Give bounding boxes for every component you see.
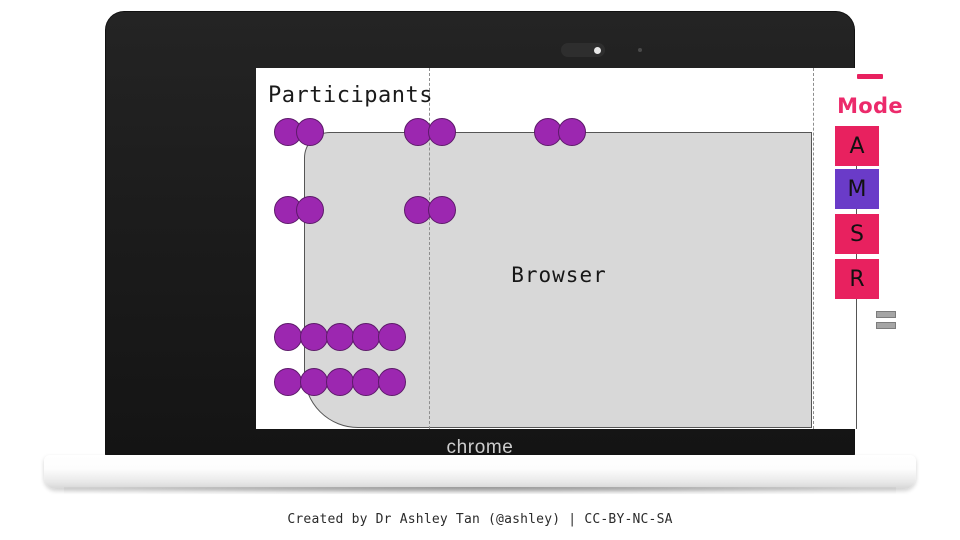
mode-chip-label: R [849,267,864,292]
participant-dot[interactable] [558,118,586,146]
mode-chip-label: A [849,134,864,159]
participant-dot[interactable] [352,323,380,351]
mode-accent-dash-icon [857,74,883,79]
participant-dot[interactable] [296,118,324,146]
list-menu-icon[interactable] [876,311,896,331]
mode-chip-r[interactable]: R [835,259,879,299]
browser-label: Browser [305,263,813,287]
laptop-lid: Browser Participants Mode AMSR chrome [106,12,854,458]
footer-caption: Created by Dr Ashley Tan (@ashley) | CC-… [0,512,960,527]
participant-dot[interactable] [274,368,302,396]
mode-chip-s[interactable]: S [835,214,879,254]
laptop-base [44,455,916,489]
menu-icon-bar-1 [876,311,896,318]
mode-chip-a[interactable]: A [835,126,879,166]
participant-dot[interactable] [326,368,354,396]
guide-line-left [429,68,430,429]
camera-indicator-led-icon [638,48,642,52]
participant-dot[interactable] [296,196,324,224]
laptop-base-shadow [64,487,896,494]
mode-chip-label: S [850,222,864,247]
participant-dot[interactable] [378,323,406,351]
page-title: Participants [268,83,433,108]
mode-chip-m[interactable]: M [835,169,879,209]
guide-line-right [813,68,814,429]
participant-dot[interactable] [300,368,328,396]
mode-title: Mode [834,94,906,118]
menu-icon-bar-2 [876,322,896,329]
participant-dot[interactable] [300,323,328,351]
webcam-icon [561,43,605,57]
participant-dot[interactable] [428,118,456,146]
participant-dot[interactable] [326,323,354,351]
laptop-device: Browser Participants Mode AMSR chrome [0,0,960,540]
participant-dot[interactable] [274,323,302,351]
participant-dot[interactable] [378,368,406,396]
participant-dot[interactable] [352,368,380,396]
mode-chip-label: M [848,177,867,202]
screen-canvas: Browser Participants Mode AMSR [256,68,916,429]
participant-dot[interactable] [428,196,456,224]
